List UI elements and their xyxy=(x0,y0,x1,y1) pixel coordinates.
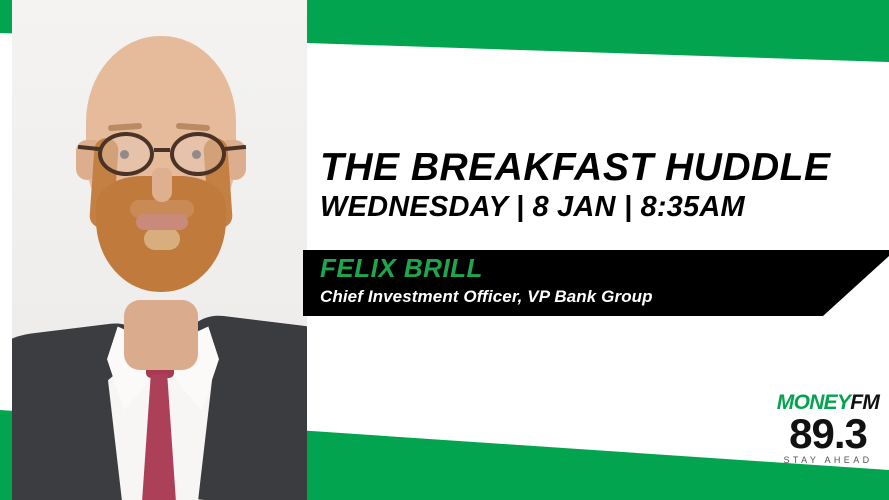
photo-backdrop xyxy=(12,0,307,500)
promo-card: THE BREAKFAST HUDDLE WEDNESDAY | 8 JAN |… xyxy=(0,0,889,500)
speaker-photo xyxy=(12,0,307,500)
glasses-lens-left xyxy=(98,132,154,176)
show-title: THE BREAKFAST HUDDLE xyxy=(320,148,880,187)
lips xyxy=(136,214,188,230)
station-logo: MONEYFM 89.3 STAY AHEAD xyxy=(776,392,880,465)
show-title-block: THE BREAKFAST HUDDLE WEDNESDAY | 8 JAN |… xyxy=(320,148,880,222)
eyeglasses-icon xyxy=(84,132,240,176)
logo-frequency: 89.3 xyxy=(776,414,880,454)
glasses-bridge xyxy=(154,148,170,152)
neck xyxy=(124,300,198,370)
speaker-name: FELIX BRILL xyxy=(320,255,483,281)
logo-tagline: STAY AHEAD xyxy=(776,456,880,465)
speaker-role: Chief Investment Officer, VP Bank Group xyxy=(320,288,653,305)
show-schedule: WEDNESDAY | 8 JAN | 8:35AM xyxy=(320,193,880,222)
glasses-lens-right xyxy=(170,132,226,176)
chin-highlight xyxy=(144,228,180,250)
